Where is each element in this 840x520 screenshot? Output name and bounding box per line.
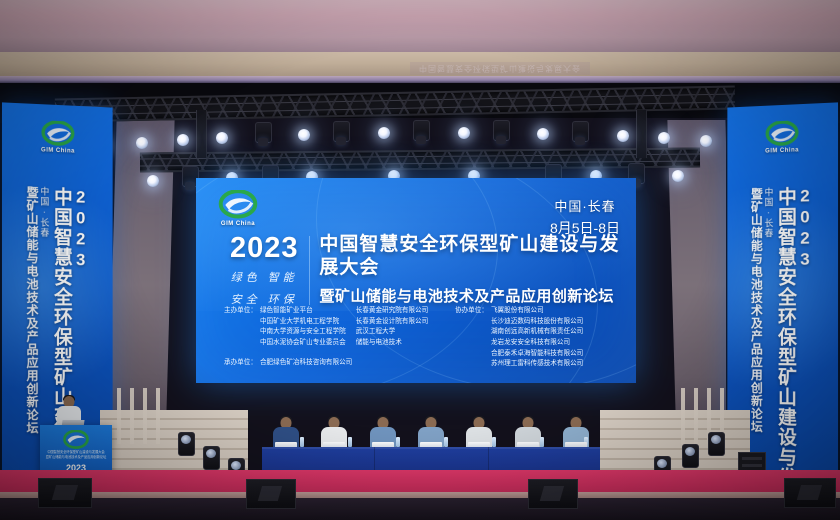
undertaker-row: 承办单位： 合肥绿色矿冶科技咨询有限公司 (224, 358, 439, 369)
stage-light (298, 129, 310, 141)
event-title-main: 中国智慧安全环保型矿山建设与发展大会 (319, 234, 636, 280)
event-title-sub: 暨矿山储能与电池技术及产品应用创新论坛 (319, 285, 636, 306)
host-column-2: 长春黄金研究院有限公司 长春黄金设计院有限公司 武汉工程大学 储能与电池技术 (356, 306, 429, 349)
coorganizer-item: 苏州理工雷科传感技术有限公司 (491, 359, 583, 370)
truss-lattice (140, 150, 700, 171)
ceiling-banner-text: 中国智慧安全环保型矿山建设与发展大会 (410, 62, 590, 75)
floor-monitor-speaker (246, 479, 296, 509)
organizer-right-column: 协办单位： 飞翼股份有限公司 长沙迪迈数码科技股份有限公司 湖南创远高新机械有限… (449, 306, 622, 370)
title-divider (309, 236, 310, 305)
screen-title-block: 2023 绿色 智能 安全 环保 中国智慧安全环保型矿山建设与发展大会 暨矿山储… (230, 234, 636, 307)
host-item: 中南大学资源与安全工程学院 (260, 327, 346, 338)
led-screen: GIM China 中国·长春 8月5日-8日 2023 绿色 智能 安全 环保… (196, 178, 636, 383)
floor-monitor-speaker (38, 478, 92, 508)
coorganizer-item: 飞翼股份有限公司 (491, 306, 583, 317)
organizer-left-column: 主办单位： 绿色智能矿业平台 中国矿业大学机电工程学院 中南大学资源与安全工程学… (224, 306, 439, 370)
banner-right-logo: GIM China (755, 120, 808, 155)
podium-title-line2: 暨矿山储能与电池技术及产品应用创新论坛 (43, 455, 109, 460)
host-column-1: 绿色智能矿业平台 中国矿业大学机电工程学院 中南大学资源与安全工程学院 中国水泥… (260, 306, 346, 349)
screen-logo-text: GIM China (208, 221, 268, 227)
undertaker-item: 合肥绿色矿冶科技咨询有限公司 (260, 358, 352, 369)
moving-head-light (333, 121, 350, 142)
podium-logo (61, 430, 91, 450)
coorganizer-list: 飞翼股份有限公司 长沙迪迈数码科技股份有限公司 湖南创远高新机械有限责任公司 龙… (491, 306, 583, 370)
banner-left-logo-text: GIM China (31, 147, 84, 155)
moving-head-light (255, 122, 272, 143)
undertaker-label: 承办单位： (224, 358, 257, 369)
truss-leg-left (196, 110, 207, 158)
coorganizer-item: 湖南创远高新机械有限责任公司 (491, 327, 583, 338)
venue-ceiling (0, 0, 840, 52)
stage-light (177, 134, 189, 146)
stage-light (537, 128, 549, 140)
moving-head-light (413, 120, 430, 141)
host-item: 中国矿业大学机电工程学院 (260, 317, 346, 328)
banner-right-year: 2023 (796, 186, 814, 518)
moving-head-floor-light (203, 446, 220, 470)
moving-head-floor-light (708, 432, 725, 456)
organizer-block: 主办单位： 绿色智能矿业平台 中国矿业大学机电工程学院 中南大学资源与安全工程学… (224, 306, 622, 370)
gim-swoosh-icon (63, 430, 89, 450)
stage-light (136, 137, 148, 149)
stage-light (378, 127, 390, 139)
stage-light (216, 132, 228, 144)
event-location: 中国·长春 (550, 196, 620, 215)
ceiling-light-strip (0, 76, 840, 83)
banner-left-logo: GIM China (31, 120, 84, 155)
event-location-date: 中国·长春 8月5日-8日 (550, 196, 620, 238)
host-item: 绿色智能矿业平台 (260, 306, 346, 317)
banner-right-title-main: 中国智慧安全环保型矿山建设与发展大会 (775, 187, 795, 518)
floor-monitor-speaker (784, 478, 836, 508)
host-item: 长春黄金研究院有限公司 (356, 306, 429, 317)
event-year: 2023 (230, 234, 299, 263)
moving-head-floor-light (178, 432, 195, 456)
gim-swoosh-icon (218, 190, 258, 220)
floor-monitor-speaker (528, 479, 578, 509)
foreground-floor (0, 498, 840, 520)
banner-right-logo-text: GIM China (755, 147, 808, 155)
gim-swoosh-icon (765, 120, 799, 147)
balustrade-left (112, 388, 164, 444)
host-row: 主办单位： 绿色智能矿业平台 中国矿业大学机电工程学院 中南大学资源与安全工程学… (224, 306, 439, 349)
host-item: 武汉工程大学 (356, 327, 429, 338)
event-slogan-line2: 安全 环保 (230, 291, 299, 307)
coorganizer-label: 协办单位： (455, 306, 488, 370)
coorganizer-item: 龙岩龙安安全科技有限公司 (491, 338, 583, 349)
stage-light (672, 170, 684, 182)
host-item: 中国水泥协会矿山专业委员会 (260, 338, 346, 349)
event-slogan-line1: 绿色 智能 (230, 269, 299, 285)
coorganizer-item: 合肥泰禾卓海智能科技有限公司 (491, 349, 583, 360)
moving-head-light (493, 120, 510, 141)
stage-light (147, 175, 159, 187)
moving-head-light (572, 121, 589, 142)
event-year-block: 2023 绿色 智能 安全 环保 (230, 234, 309, 307)
stage-photo: 中国智慧安全环保型矿山建设与发展大会 (0, 0, 840, 520)
host-item: 长春黄金设计院有限公司 (356, 317, 429, 328)
truss-leg-right (636, 110, 647, 158)
event-titles: 中国智慧安全环保型矿山建设与发展大会 暨矿山储能与电池技术及产品应用创新论坛 (319, 234, 636, 306)
host-label: 主办单位： (224, 306, 257, 349)
banner-left-title-sub: 暨矿山储能与电池技术及产品应用创新论坛 (26, 186, 38, 518)
stage-light (658, 132, 670, 144)
gim-swoosh-icon (41, 120, 75, 147)
stage-light (700, 135, 712, 147)
stage-light (617, 130, 629, 142)
moving-head-floor-light (682, 444, 699, 468)
stage-light (458, 127, 470, 139)
coorganizer-item: 长沙迪迈数码科技股份有限公司 (491, 317, 583, 328)
screen-logo: GIM China (208, 190, 268, 227)
host-item: 储能与电池技术 (356, 338, 429, 349)
